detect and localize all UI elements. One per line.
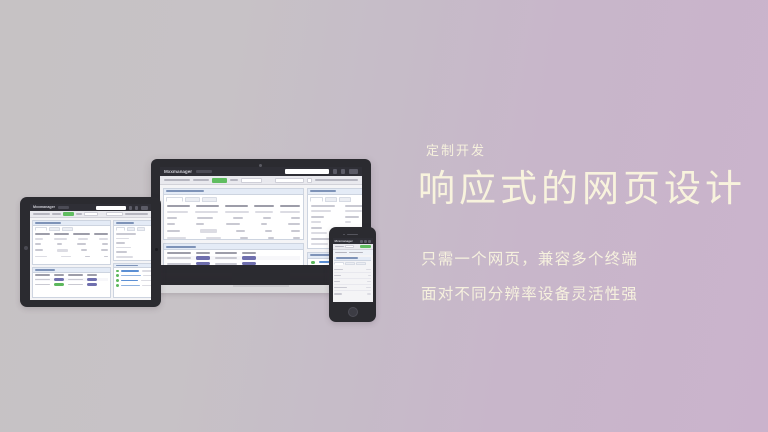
grid-icon[interactable] [360,240,363,243]
grid-icon[interactable] [129,206,132,210]
phone-camera [343,234,345,236]
item-link[interactable] [121,285,140,287]
status-list [33,273,110,288]
breadcrumb[interactable] [335,246,344,248]
status-dot [116,279,119,281]
toolbar-label-1 [193,179,208,182]
tab-overview[interactable] [166,197,183,202]
toolbar-status-text [125,213,148,215]
tab-history[interactable] [202,197,217,202]
date-range-input[interactable] [106,212,124,216]
status-panel-title [166,246,196,248]
breadcrumb[interactable] [33,213,50,215]
phone-panel-title [336,257,358,258]
tablet-right-column [113,220,151,298]
table-row [167,229,300,233]
status-badge [87,278,97,281]
bell-icon[interactable] [364,240,367,243]
user-menu-icon[interactable] [349,169,358,174]
tab-overview[interactable] [334,262,344,265]
status-badge [54,283,64,286]
global-search-input[interactable] [96,206,126,210]
primary-action-button[interactable] [360,245,371,248]
tab-stats[interactable] [127,227,135,231]
monitor-camera [259,164,262,167]
responsive-web-design-banner: Mxxmanager [0,0,768,432]
status-badge [196,262,210,265]
toolbar-status-text [315,179,359,182]
status-list [164,250,303,265]
phone-tabs [334,262,371,265]
detail-tabs [308,195,362,202]
item-meta [143,275,151,277]
page-title: 响应式的网页设计 [418,168,758,209]
list-item[interactable] [116,284,151,286]
table-row [35,233,108,235]
primary-action-button[interactable] [63,212,73,216]
status-dot [116,274,119,276]
app-brand-label[interactable]: Mxxmanager [164,167,192,176]
list-item[interactable] [334,291,371,297]
detail-fields [114,231,151,260]
toolbar-label-1 [335,252,347,254]
primary-action-button[interactable] [212,178,227,183]
item-meta [142,270,151,272]
status-badge [87,283,97,286]
table-row [167,237,300,239]
table-row[interactable] [167,262,300,265]
item-meta [142,285,151,287]
global-search-input[interactable] [285,169,329,174]
activity-panel-title [116,265,138,267]
tablet-navbar: Mxxmanager [30,204,151,211]
tablet-camera [155,248,158,251]
activity-list [114,268,151,288]
list-item[interactable] [116,274,151,276]
tablet-body [30,218,151,300]
summary-panel [163,188,304,240]
status-dot [116,284,119,286]
app-brand-label[interactable]: Mxxmanager [335,238,353,244]
tablet-device: Mxxmanager [20,197,161,307]
subline-1: 只需一个网页，兼容多个终端 [421,247,758,269]
phone-home-button[interactable] [348,307,358,317]
item-meta [141,280,151,282]
summary-panel-title [35,222,61,224]
table-row [167,217,300,219]
tab-history[interactable] [62,227,73,231]
table-row [167,211,300,213]
phone-dashboard-ui: Mxxmanager [333,238,373,302]
phone-speaker [347,234,358,236]
monitor-neck-inner [232,272,290,285]
user-menu-icon[interactable] [141,206,148,210]
table-row[interactable] [35,278,108,281]
tab-overview[interactable] [35,227,47,231]
tablet-screen: Mxxmanager [30,204,151,300]
phone-list [334,267,371,297]
status-dot [311,261,315,264]
breadcrumb[interactable] [164,179,190,182]
tablet-toolbar [30,211,151,218]
list-item[interactable] [116,279,151,281]
phone-body [333,255,373,298]
detail-panel-title [116,222,134,224]
dashboard-navbar: Mxxmanager [160,167,362,176]
grid-icon[interactable] [333,169,337,174]
summary-table [164,202,303,240]
tab-detail[interactable] [185,197,200,202]
dashboard-left-column [163,188,304,262]
status-dot [116,270,119,272]
dashboard-toolbar [160,176,362,185]
table-row[interactable] [167,256,300,260]
toolbar-label-1 [52,213,61,215]
list-header-row [167,252,300,254]
tab-detail[interactable] [345,262,355,265]
phone-screen: Mxxmanager [333,238,373,302]
app-brand-label[interactable]: Mxxmanager [33,204,55,211]
toolbar-label-2 [76,213,82,215]
summary-panel [32,220,111,265]
tab-logs[interactable] [137,227,145,231]
marketing-copy: 定制开发 响应式的网页设计 只需一个网页，兼容多个终端 面对不同分辨率设备灵活性… [418,140,758,304]
device-mockup-group: Mxxmanager [0,0,420,432]
table-row [167,205,300,207]
detail-panel [113,220,151,261]
status-badge [54,278,64,281]
status-panel-title [35,269,55,271]
tab-info[interactable] [116,227,125,231]
activity-panel [113,263,151,298]
tab-history[interactable] [356,262,366,265]
date-range-input[interactable] [275,178,303,183]
tab-detail[interactable] [49,227,60,231]
summary-table [33,231,110,259]
tablet-left-column [32,220,111,298]
status-badge [242,256,256,260]
toolbar-label-2 [230,179,239,182]
table-row [35,238,108,240]
tab-logs[interactable] [339,197,351,202]
status-panel [32,267,111,298]
summary-panel-title [166,190,204,192]
tab-stats[interactable] [325,197,337,202]
calendar-icon[interactable] [307,178,312,183]
table-row [35,243,108,245]
list-header-row [35,274,108,276]
filter-select[interactable] [84,212,98,216]
nav-menu-item[interactable] [196,170,212,173]
bell-icon[interactable] [135,206,138,210]
table-row [167,223,300,225]
phone-panel-header [334,257,371,261]
nav-menu-item[interactable] [58,206,69,208]
eyebrow-text: 定制开发 [426,140,758,159]
tab-info[interactable] [310,197,323,202]
filter-select[interactable] [241,178,262,183]
table-row [35,249,108,252]
smartphone-device: Mxxmanager [329,227,376,322]
list-item[interactable] [116,270,151,272]
status-panel [163,243,304,265]
toolbar-label-2 [349,252,363,254]
tablet-home-button[interactable] [24,246,28,250]
subline-2: 面对不同分辨率设备灵活性强 [421,282,758,304]
item-link[interactable] [121,280,138,282]
tablet-dashboard-ui: Mxxmanager [30,204,151,300]
bell-icon[interactable] [341,169,345,174]
item-link[interactable] [121,275,141,277]
detail-panel-title [310,190,336,192]
table-row[interactable] [35,283,108,286]
item-link[interactable] [121,270,139,272]
hamburger-menu-icon[interactable] [368,240,371,243]
status-badge [242,262,256,265]
status-badge [196,256,210,260]
summary-tabs [164,195,303,202]
filter-select[interactable] [345,245,354,248]
table-row [35,256,108,258]
